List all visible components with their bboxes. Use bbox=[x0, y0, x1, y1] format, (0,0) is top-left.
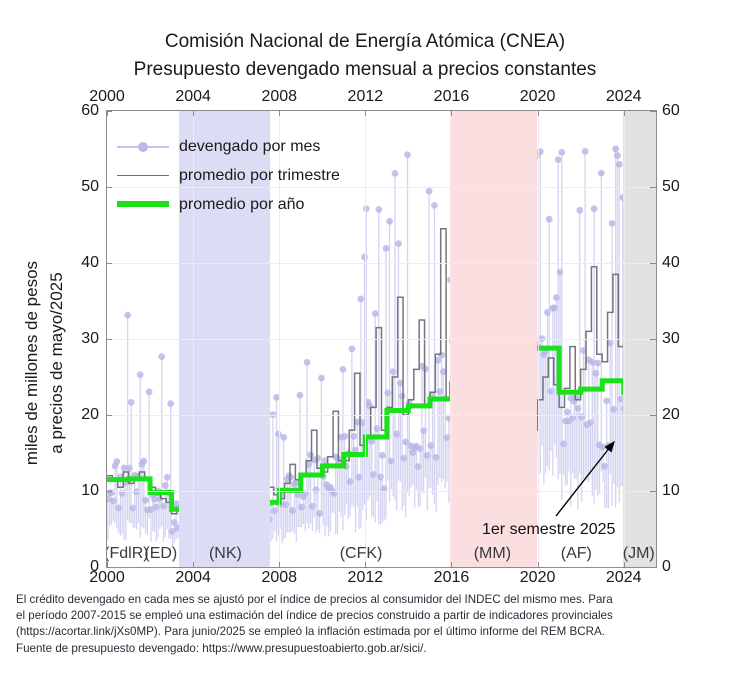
xtick-label-top-2024: 2024 bbox=[606, 88, 642, 106]
ytick-right-60 bbox=[650, 111, 656, 112]
gridline-x-2012 bbox=[365, 111, 366, 567]
ytick-label-left-40: 40 bbox=[63, 254, 99, 272]
caption-line-1: El crédito devengado en cada mes se ajus… bbox=[16, 592, 722, 608]
legend: devengado por mes promedio por trimestre… bbox=[115, 132, 365, 219]
chart-title: Comisión Nacional de Energía Atómica (CN… bbox=[0, 31, 730, 53]
ytick-label-right-10: 10 bbox=[662, 482, 702, 500]
xtick-top-2008 bbox=[279, 110, 280, 116]
xtick-label-top-2020: 2020 bbox=[520, 88, 556, 106]
ytick-label-right-0: 0 bbox=[662, 558, 702, 576]
legend-label-monthly: devengado por mes bbox=[179, 138, 320, 156]
ytick-right-30 bbox=[650, 339, 656, 340]
chart-figure: Comisión Nacional de Energía Atómica (CN… bbox=[0, 0, 730, 675]
legend-item-yearly: promedio por año bbox=[115, 190, 365, 219]
gridline-x-2020 bbox=[538, 111, 539, 567]
ytick-label-left-50: 50 bbox=[63, 178, 99, 196]
ytick-label-right-40: 40 bbox=[662, 254, 702, 272]
period-label-ED: (ED) bbox=[144, 545, 177, 563]
gridline-x-2024 bbox=[624, 111, 625, 567]
legend-item-quarterly: promedio por trimestre bbox=[115, 161, 365, 190]
xtick-label-bottom-2020: 2020 bbox=[520, 569, 556, 587]
ytick-left-30 bbox=[106, 339, 112, 340]
annotation-label: 1er semestre 2025 bbox=[482, 521, 615, 539]
ytick-right-40 bbox=[650, 263, 656, 264]
caption-line-3: (https://acortar.link/jXs0MP). Para juni… bbox=[16, 624, 722, 640]
caption-line-4: Fuente de presupuesto devengado: https:/… bbox=[16, 641, 722, 657]
xtick-bot-2020 bbox=[538, 562, 539, 568]
xtick-label-bottom-2004: 2004 bbox=[175, 569, 211, 587]
xtick-top-2012 bbox=[365, 110, 366, 116]
ytick-label-right-30: 30 bbox=[662, 330, 702, 348]
ytick-left-40 bbox=[106, 263, 112, 264]
legend-key-monthly-icon bbox=[115, 138, 171, 156]
ytick-right-50 bbox=[650, 187, 656, 188]
xtick-top-2024 bbox=[624, 110, 625, 116]
period-label-CFK: (CFK) bbox=[340, 545, 383, 563]
caption: El crédito devengado en cada mes se ajus… bbox=[16, 592, 722, 657]
chart-subtitle: Presupuesto devengado mensual a precios … bbox=[0, 59, 730, 81]
ytick-label-left-20: 20 bbox=[63, 406, 99, 424]
xtick-label-top-2004: 2004 bbox=[175, 88, 211, 106]
ytick-left-10 bbox=[106, 491, 112, 492]
ytick-left-20 bbox=[106, 415, 112, 416]
ytick-right-0 bbox=[650, 567, 656, 568]
ytick-label-right-60: 60 bbox=[662, 102, 702, 120]
xtick-label-bottom-2016: 2016 bbox=[434, 569, 470, 587]
xtick-label-bottom-2012: 2012 bbox=[348, 569, 384, 587]
xtick-top-2020 bbox=[538, 110, 539, 116]
xtick-top-2016 bbox=[451, 110, 452, 116]
gridline-y-40 bbox=[107, 263, 656, 264]
legend-key-quarterly-icon bbox=[115, 167, 171, 185]
xtick-label-bottom-2024: 2024 bbox=[606, 569, 642, 587]
ytick-label-right-50: 50 bbox=[662, 178, 702, 196]
ytick-label-left-30: 30 bbox=[63, 330, 99, 348]
period-label-JM: (JM) bbox=[623, 545, 655, 563]
xtick-bot-2012 bbox=[365, 562, 366, 568]
gridline-x-2016 bbox=[451, 111, 452, 567]
legend-key-yearly-icon bbox=[115, 196, 171, 214]
period-label-FdlR: (FdlR) bbox=[106, 545, 149, 563]
xtick-bot-2004 bbox=[193, 562, 194, 568]
period-label-NK: (NK) bbox=[209, 545, 242, 563]
caption-line-2: el período 2007-2015 se empleó una estim… bbox=[16, 608, 722, 624]
ytick-label-left-10: 10 bbox=[63, 482, 99, 500]
xtick-top-2004 bbox=[193, 110, 194, 116]
xtick-bot-2008 bbox=[279, 562, 280, 568]
ytick-right-10 bbox=[650, 491, 656, 492]
legend-label-yearly: promedio por año bbox=[179, 196, 304, 214]
ytick-label-right-20: 20 bbox=[662, 406, 702, 424]
ytick-left-0 bbox=[106, 567, 112, 568]
ytick-left-60 bbox=[106, 111, 112, 112]
xtick-label-top-2008: 2008 bbox=[261, 88, 297, 106]
ytick-left-50 bbox=[106, 187, 112, 188]
ytick-label-left-0: 0 bbox=[63, 558, 99, 576]
ytick-label-left-60: 60 bbox=[63, 102, 99, 120]
xtick-label-top-2016: 2016 bbox=[434, 88, 470, 106]
period-label-AF: (AF) bbox=[561, 545, 592, 563]
xtick-bot-2016 bbox=[451, 562, 452, 568]
legend-item-monthly: devengado por mes bbox=[115, 132, 365, 161]
ytick-right-20 bbox=[650, 415, 656, 416]
gridline-y-10 bbox=[107, 491, 656, 492]
period-label-MM: (MM) bbox=[474, 545, 511, 563]
gridline-y-30 bbox=[107, 339, 656, 340]
xtick-label-bottom-2008: 2008 bbox=[261, 569, 297, 587]
y-axis-label: miles de millones de pesos a precios de … bbox=[19, 153, 69, 573]
gridline-y-20 bbox=[107, 415, 656, 416]
xtick-bot-2024 bbox=[624, 562, 625, 568]
xtick-label-top-2012: 2012 bbox=[348, 88, 384, 106]
legend-label-quarterly: promedio por trimestre bbox=[179, 167, 340, 185]
